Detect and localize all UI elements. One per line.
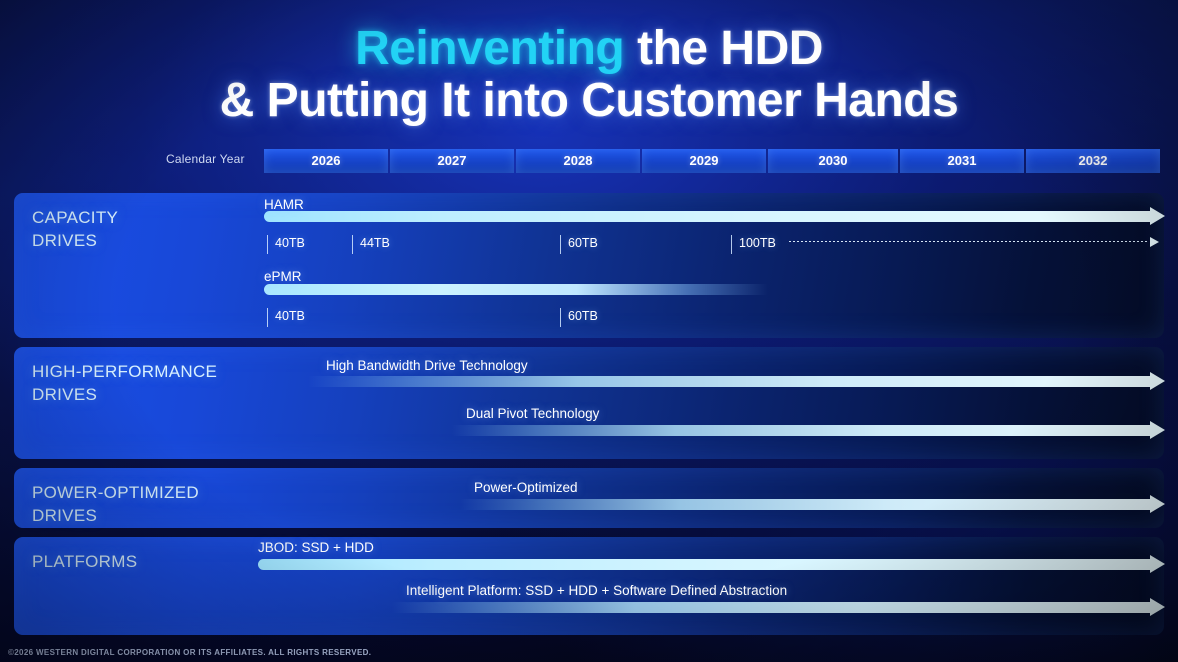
year-cell-2029: 2029 xyxy=(642,149,766,173)
track-label-jbod: JBOD: SSD + HDD xyxy=(258,540,374,555)
copyright-footer: ©2026 WESTERN DIGITAL CORPORATION OR ITS… xyxy=(8,648,371,657)
slide-title: Reinventing the HDD & Putting It into Cu… xyxy=(0,24,1178,126)
track-bar-intelligent-platform xyxy=(392,602,1150,613)
track-label-dual-pivot: Dual Pivot Technology xyxy=(466,406,599,421)
projection-line-hamr-100tb xyxy=(789,241,1149,242)
milestone-tick-epmr-60tb xyxy=(560,308,561,327)
milestone-tick-hamr-44tb xyxy=(352,235,353,254)
milestone-label-hamr-100tb: 100TB xyxy=(739,236,776,250)
milestone-label-hamr-44tb: 44TB xyxy=(360,236,390,250)
year-cell-2026: 2026 xyxy=(264,149,388,173)
track-bar-power-optimized xyxy=(460,499,1150,510)
track-bar-epmr xyxy=(264,284,768,295)
calendar-year-header: Calendar Year 2026 2027 2028 2029 2030 2… xyxy=(0,149,1178,173)
section-label-high-performance-drives: HIGH-PERFORMANCE DRIVES xyxy=(32,361,217,407)
title-line-1-rest: the HDD xyxy=(624,22,823,75)
year-cell-2027: 2027 xyxy=(390,149,514,173)
section-high-performance-drives: HIGH-PERFORMANCE DRIVES xyxy=(14,347,1164,459)
track-bar-dual-pivot xyxy=(452,425,1150,436)
year-cell-2032: 2032 xyxy=(1026,149,1160,173)
year-cell-2031: 2031 xyxy=(900,149,1024,173)
track-arrow-high-bandwidth xyxy=(1150,372,1165,390)
milestone-tick-hamr-60tb xyxy=(560,235,561,254)
track-bar-jbod xyxy=(258,559,1150,570)
milestone-label-epmr-40tb: 40TB xyxy=(275,309,305,323)
track-bar-hamr xyxy=(264,211,1150,222)
section-label-platforms: PLATFORMS xyxy=(32,551,137,574)
track-label-epmr: ePMR xyxy=(264,269,302,284)
year-cell-2028: 2028 xyxy=(516,149,640,173)
track-arrow-power-optimized xyxy=(1150,495,1165,513)
milestone-tick-hamr-100tb xyxy=(731,235,732,254)
milestone-label-epmr-60tb: 60TB xyxy=(568,309,598,323)
calendar-year-label: Calendar Year xyxy=(166,152,258,166)
track-arrow-hamr xyxy=(1150,207,1165,225)
roadmap-slide: Reinventing the HDD & Putting It into Cu… xyxy=(0,0,1178,662)
track-arrow-dual-pivot xyxy=(1150,421,1165,439)
track-arrow-jbod xyxy=(1150,555,1165,573)
track-label-high-bandwidth: High Bandwidth Drive Technology xyxy=(326,358,528,373)
milestone-label-hamr-60tb: 60TB xyxy=(568,236,598,250)
year-cell-2030: 2030 xyxy=(768,149,898,173)
title-line-1: Reinventing the HDD xyxy=(0,24,1178,74)
title-line-2: & Putting It into Customer Hands xyxy=(0,76,1178,126)
track-label-intelligent-platform: Intelligent Platform: SSD + HDD + Softwa… xyxy=(406,583,787,598)
milestone-tick-epmr-40tb xyxy=(267,308,268,327)
section-label-power-optimized-drives: POWER-OPTIMIZED DRIVES xyxy=(32,482,199,528)
section-label-capacity-drives: CAPACITY DRIVES xyxy=(32,207,118,253)
milestone-label-hamr-40tb: 40TB xyxy=(275,236,305,250)
track-bar-high-bandwidth xyxy=(308,376,1150,387)
track-arrow-intelligent-platform xyxy=(1150,598,1165,616)
projection-arrow-hamr-100tb xyxy=(1150,237,1159,247)
track-label-hamr: HAMR xyxy=(264,197,304,212)
track-label-power-optimized: Power-Optimized xyxy=(474,480,578,495)
title-accent-word: Reinventing xyxy=(355,22,624,75)
section-power-optimized-drives: POWER-OPTIMIZED DRIVES xyxy=(14,468,1164,528)
milestone-tick-hamr-40tb xyxy=(267,235,268,254)
